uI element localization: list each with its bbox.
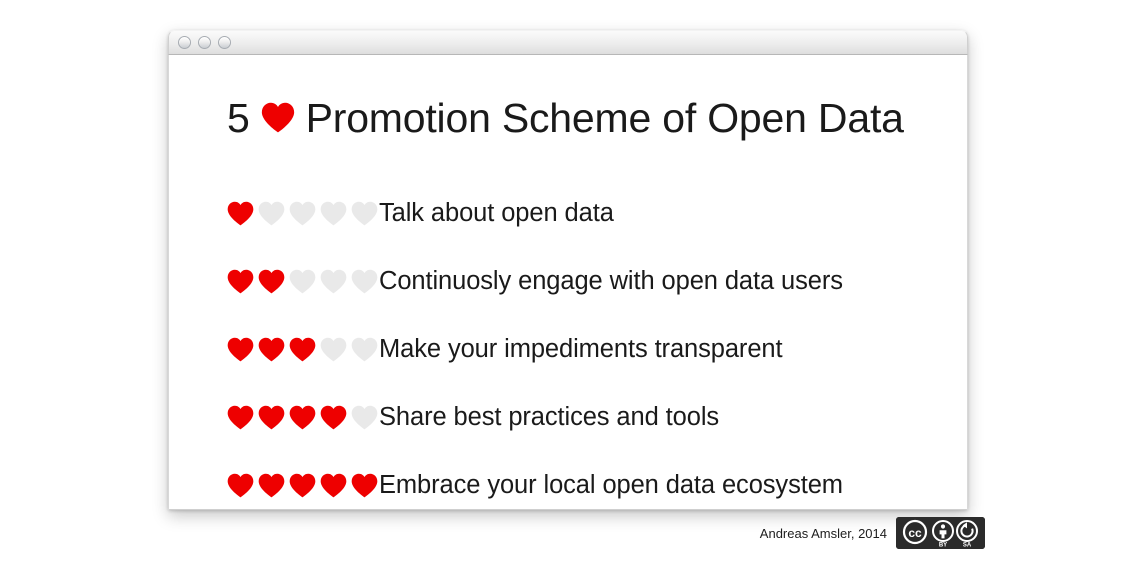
heart-icon-empty <box>320 337 347 362</box>
heart-icon-filled <box>258 269 285 294</box>
heart-icon-filled <box>227 269 254 294</box>
heart-icon-empty <box>351 269 378 294</box>
list-item: Continuosly engage with open data users <box>227 247 927 315</box>
heart-rating <box>227 201 379 226</box>
list-item: Share best practices and tools <box>227 383 927 451</box>
page-title: 5 Promotion Scheme of Open Data <box>227 95 904 142</box>
heart-icon-filled <box>351 473 378 498</box>
list-item-label: Share best practices and tools <box>379 403 719 432</box>
heart-icon-empty <box>351 337 378 362</box>
promotion-scheme-list: Talk about open data Continuosly engage … <box>227 179 927 510</box>
heart-icon-filled <box>258 337 285 362</box>
heart-icon-filled <box>227 337 254 362</box>
heart-icon-filled <box>258 405 285 430</box>
heart-icon-filled <box>227 405 254 430</box>
cc-by-sa-badge[interactable]: cc BY SA <box>896 517 985 549</box>
list-item-label: Talk about open data <box>379 199 614 228</box>
heart-icon-empty <box>320 201 347 226</box>
browser-window: 5 Promotion Scheme of Open Data Talk abo… <box>168 30 968 510</box>
author-credit: Andreas Amsler, 2014 <box>760 526 887 541</box>
heart-icon-empty <box>289 201 316 226</box>
heart-icon-empty <box>320 269 347 294</box>
svg-text:BY: BY <box>939 543 947 549</box>
heart-icon-filled <box>289 405 316 430</box>
window-controls <box>178 36 231 49</box>
svg-text:cc: cc <box>908 526 922 540</box>
list-item-label: Embrace your local open data ecosystem <box>379 471 843 500</box>
heart-icon-empty <box>289 269 316 294</box>
list-item: Make your impediments transparent <box>227 315 927 383</box>
heart-icon-filled <box>289 337 316 362</box>
list-item-label: Make your impediments transparent <box>379 335 782 364</box>
heart-rating <box>227 405 379 430</box>
heart-icon <box>261 96 295 143</box>
heart-icon-empty <box>351 405 378 430</box>
list-item: Talk about open data <box>227 179 927 247</box>
heart-icon-filled <box>289 473 316 498</box>
window-titlebar <box>168 30 968 55</box>
heart-icon-filled <box>227 473 254 498</box>
close-button[interactable] <box>178 36 191 49</box>
heart-icon-filled <box>258 473 285 498</box>
title-text: Promotion Scheme of Open Data <box>306 95 904 142</box>
list-item-label: Continuosly engage with open data users <box>379 267 843 296</box>
heart-icon-empty <box>351 201 378 226</box>
title-number: 5 <box>227 95 250 142</box>
svg-text:SA: SA <box>963 543 972 549</box>
window-content: 5 Promotion Scheme of Open Data Talk abo… <box>168 55 968 510</box>
list-item: Embrace your local open data ecosystem <box>227 451 927 510</box>
zoom-button[interactable] <box>218 36 231 49</box>
heart-rating <box>227 269 379 294</box>
heart-icon-empty <box>258 201 285 226</box>
minimize-button[interactable] <box>198 36 211 49</box>
heart-icon-filled <box>320 473 347 498</box>
heart-icon-filled <box>320 405 347 430</box>
heart-rating <box>227 473 379 498</box>
footer: Andreas Amsler, 2014 cc BY SA <box>0 517 985 549</box>
heart-rating <box>227 337 379 362</box>
heart-icon-filled <box>227 201 254 226</box>
